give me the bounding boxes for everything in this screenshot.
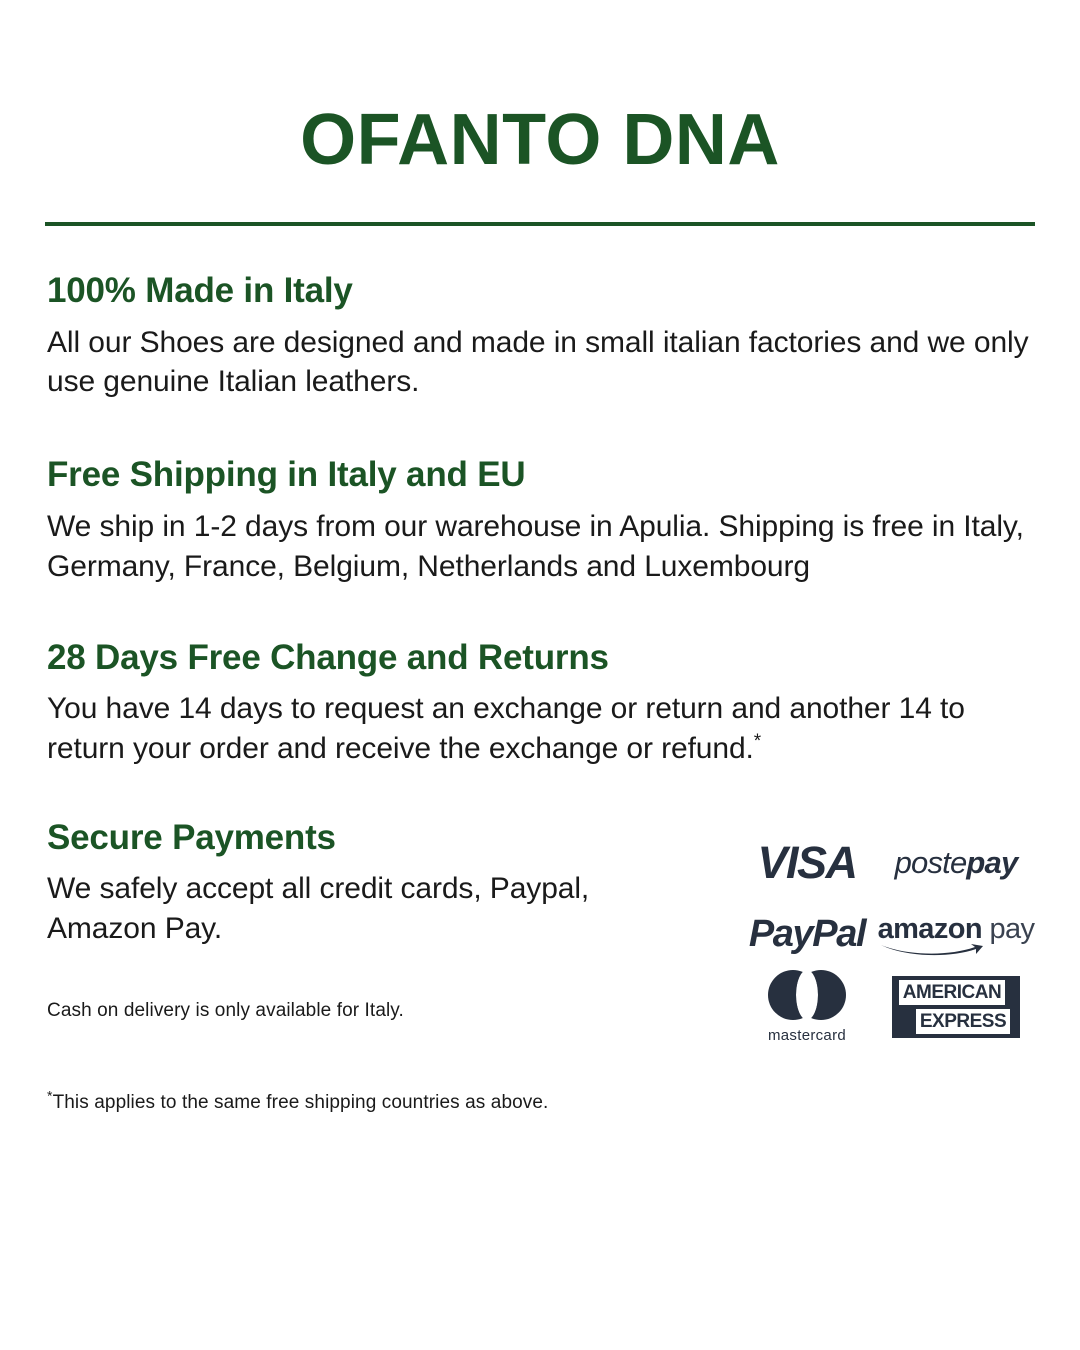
amazon-smile-arrow-icon xyxy=(879,942,991,955)
mastercard-circles-icon xyxy=(768,970,846,1020)
american-express-logo: AMERICAN EXPRESS xyxy=(881,976,1031,1038)
ofanto-dna-infographic: OFANTO DNA 100% Made in Italy All our Sh… xyxy=(0,0,1080,1350)
note-asterisk-disclaimer: *This applies to the same free shipping … xyxy=(47,1091,1033,1116)
section-heading-free-shipping: Free Shipping in Italy and EU xyxy=(47,456,1033,495)
section-body-returns-text: You have 14 days to request an exchange … xyxy=(47,692,965,765)
amex-logo-line1: AMERICAN xyxy=(899,980,1005,1005)
section-made-in-italy: 100% Made in Italy All our Shoes are des… xyxy=(47,272,1033,402)
payment-logo-row-2: PayPal amazon pay xyxy=(743,899,1031,971)
title-divider xyxy=(45,222,1035,226)
page-title: OFANTO DNA xyxy=(0,104,1080,176)
section-secure-payments: Secure Payments We safely accept all cre… xyxy=(47,819,1033,1116)
note-cash-on-delivery: Cash on delivery is only available for I… xyxy=(47,999,687,1024)
note-asterisk-text: This applies to the same free shipping c… xyxy=(53,1092,549,1113)
american-express-logo-mark: AMERICAN EXPRESS xyxy=(892,976,1020,1038)
section-body-free-shipping: We ship in 1-2 days from our warehouse i… xyxy=(47,507,1033,587)
visa-logo: VISA xyxy=(743,837,871,889)
postepay-logo-poste: poste xyxy=(895,845,967,880)
payments-row: Secure Payments We safely accept all cre… xyxy=(47,819,1033,1043)
amazon-pay-logo-text: amazon pay xyxy=(878,915,1035,954)
section-body-returns: You have 14 days to request an exchange … xyxy=(47,689,1033,769)
payment-logo-row-3: mastercard AMERICAN EXPRESS xyxy=(743,971,1031,1043)
paypal-logo: PayPal xyxy=(743,913,871,956)
section-heading-made-in-italy: 100% Made in Italy xyxy=(47,272,1033,311)
mastercard-overlap-lens xyxy=(796,970,818,1020)
section-body-secure-payments: We safely accept all credit cards, Paypa… xyxy=(47,869,687,949)
content: 100% Made in Italy All our Shoes are des… xyxy=(0,272,1080,1116)
mastercard-logo-text: mastercard xyxy=(768,1027,846,1044)
amazon-pay-logo-amazon: amazon xyxy=(878,913,982,945)
amex-logo-line2: EXPRESS xyxy=(916,1009,1010,1034)
visa-logo-text: VISA xyxy=(757,837,856,889)
mastercard-logo: mastercard xyxy=(743,970,871,1044)
paypal-logo-text: PayPal xyxy=(749,913,865,956)
payment-logo-row-1: VISA postepay xyxy=(743,827,1031,899)
section-returns: 28 Days Free Change and Returns You have… xyxy=(47,639,1033,769)
payment-logos-group: VISA postepay PayPal amazon pay xyxy=(743,827,1031,1043)
postepay-logo: postepay xyxy=(881,845,1031,881)
postepay-logo-text: postepay xyxy=(895,845,1018,881)
section-free-shipping: Free Shipping in Italy and EU We ship in… xyxy=(47,456,1033,586)
postepay-logo-pay: pay xyxy=(966,845,1017,880)
header: OFANTO DNA xyxy=(0,0,1080,226)
section-heading-secure-payments: Secure Payments xyxy=(47,819,687,858)
returns-asterisk-marker: * xyxy=(754,731,761,752)
amazon-pay-logo-pay: pay xyxy=(989,913,1034,945)
mastercard-logo-mark: mastercard xyxy=(768,970,846,1044)
payments-text-block: Secure Payments We safely accept all cre… xyxy=(47,819,687,1043)
section-heading-returns: 28 Days Free Change and Returns xyxy=(47,639,1033,678)
amazon-pay-logo: amazon pay xyxy=(881,915,1031,954)
section-body-made-in-italy: All our Shoes are designed and made in s… xyxy=(47,323,1033,403)
